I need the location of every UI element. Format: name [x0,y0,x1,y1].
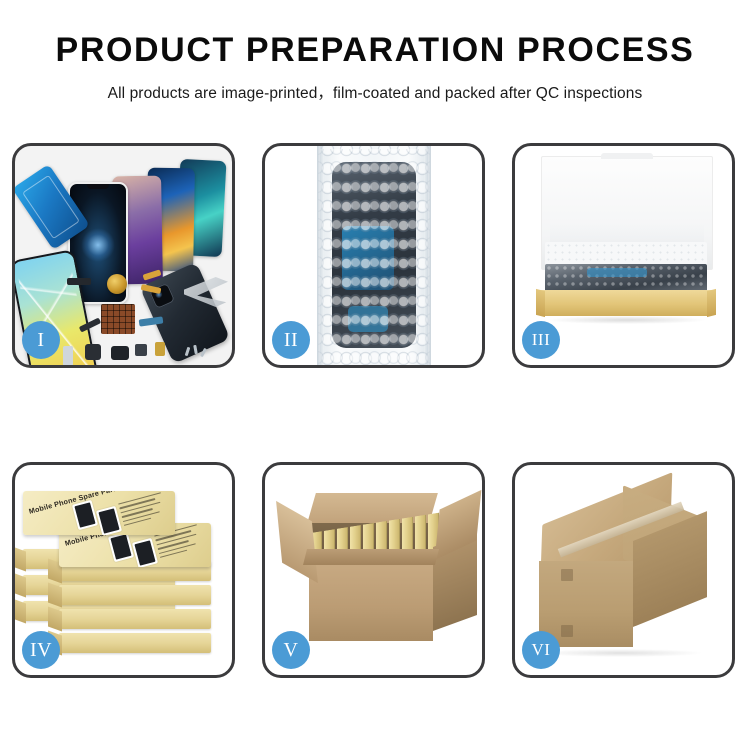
screws-group [184,345,210,359]
drop-shadow [541,649,701,657]
process-step-4: Mobile Phone Spare Parts Mobile Phone Sp… [12,462,235,678]
step-badge-4: IV [22,631,60,669]
retail-box-top: Mobile Phone Spare Parts [23,491,175,535]
carton-slot-tab [561,625,573,637]
box-product-photo [108,532,134,562]
carton-front-face [539,561,633,647]
page-subtitle: All products are image-printed，film-coat… [0,81,750,103]
step-badge-3: III [522,321,560,359]
retail-box [59,609,211,629]
mailer-box-base [539,290,713,316]
small-component-part [135,344,147,356]
small-component-part [63,346,73,365]
step-badge-2: II [272,321,310,359]
copper-chip-part [101,304,135,334]
step-badge-6: VI [522,631,560,669]
box-spec-lines [118,491,172,530]
bubble-wrap-texture [318,149,430,365]
process-step-5: V [262,462,485,678]
small-component-part [111,346,129,360]
box-product-photo [132,538,158,567]
retail-box [59,633,211,653]
retail-box [59,585,211,605]
process-step-6: VI [512,462,735,678]
carton-front-face [309,557,433,641]
carton-slot-tab [561,569,573,581]
drop-shadow [549,316,705,324]
process-step-1: I [12,143,235,368]
small-component-part [155,342,165,356]
process-step-3: III [512,143,735,368]
step-badge-1: I [22,321,60,359]
process-step-2: II [262,143,485,368]
carton-flap-front [303,549,439,565]
sleeve-edge-left [317,146,324,365]
process-step-grid: I II III [12,143,738,678]
page-header: PRODUCT PREPARATION PROCESS All products… [0,0,750,103]
small-component-part [85,344,101,360]
phone-notch [87,184,109,189]
box-product-photo [72,500,98,530]
speaker-coil-part [107,274,127,294]
earpiece-part [67,278,91,285]
step-badge-5: V [272,631,310,669]
box-product-photo [96,506,122,535]
page-title: PRODUCT PREPARATION PROCESS [0,33,750,67]
sleeve-edge-right [424,146,431,365]
